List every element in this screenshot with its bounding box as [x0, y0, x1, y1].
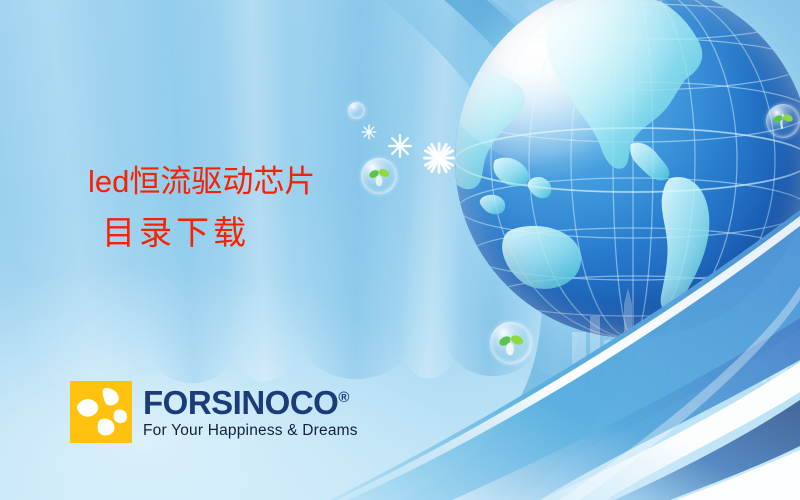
bubble-plain-small-icon: [348, 102, 365, 119]
bubble-with-green-sprout-lower-icon: [490, 322, 532, 364]
headline-line-1: led恒流驱动芯片: [88, 162, 428, 203]
starburst-sparkle-small-icon: [361, 124, 377, 140]
headline-line-2: 目录下载: [102, 211, 428, 255]
brand-name-text: FORSINOCO: [143, 384, 338, 421]
earth-globe-icon: [455, 0, 800, 338]
four-petal-pinwheel-icon: [70, 381, 132, 443]
led-catalog-banner: led恒流驱动芯片 目录下载 FORSINOCO® For Your Happi…: [0, 0, 800, 500]
page-title: led恒流驱动芯片 目录下载: [88, 162, 428, 254]
brand-name: FORSINOCO®: [143, 386, 358, 419]
green-sprout-icon: [490, 322, 532, 364]
brand-text-block: FORSINOCO® For Your Happiness & Dreams: [143, 381, 358, 443]
registered-trademark-symbol: ®: [338, 389, 349, 406]
pinwheel-petals: [70, 381, 132, 443]
bubble-with-green-sprout-right-icon: [766, 104, 800, 138]
brand-logo-lockup: FORSINOCO® For Your Happiness & Dreams: [70, 381, 358, 443]
brand-tagline: For Your Happiness & Dreams: [143, 423, 358, 439]
green-sprout-icon: [766, 104, 800, 138]
globe-rim-shading: [455, 0, 800, 338]
starburst-sparkle-medium-icon: [388, 134, 412, 158]
